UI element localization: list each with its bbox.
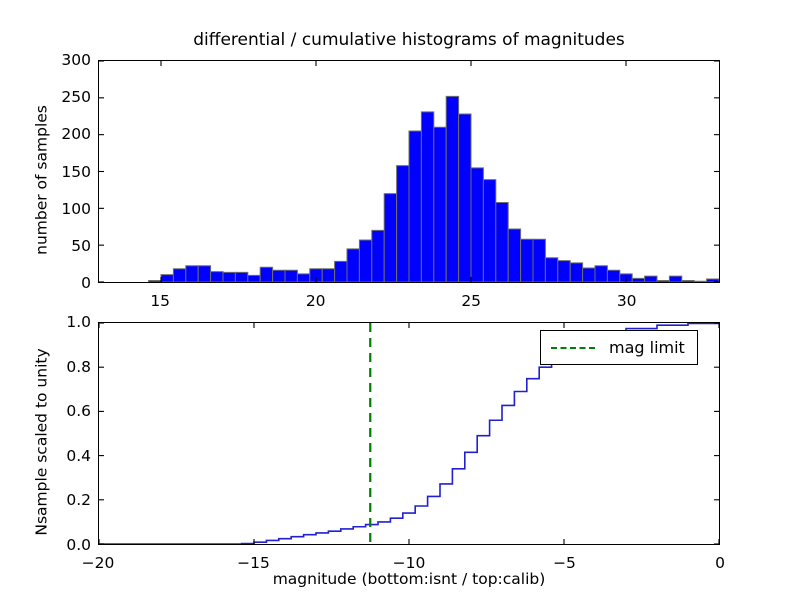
histogram-bar — [161, 275, 173, 282]
histogram-bar — [583, 268, 595, 282]
histogram-bar — [260, 267, 272, 282]
chart-title: differential / cumulative histograms of … — [98, 30, 720, 50]
legend-swatch-mag-limit — [551, 347, 595, 349]
histogram-bar — [186, 266, 198, 282]
histogram-bar — [570, 263, 582, 282]
top-panel-differential-histogram — [98, 60, 720, 283]
figure-canvas: differential / cumulative histograms of … — [0, 0, 800, 600]
histogram-bar — [322, 269, 334, 282]
histogram-bar — [508, 229, 520, 282]
legend: mag limit — [540, 330, 698, 365]
histogram-bar — [347, 249, 359, 282]
histogram-bar — [521, 239, 533, 282]
histogram-bar — [384, 194, 396, 282]
histogram-bar — [645, 276, 657, 282]
histogram-bars — [99, 61, 719, 282]
histogram-bar — [434, 127, 446, 282]
histogram-bar — [682, 281, 694, 282]
histogram-bar — [335, 261, 347, 282]
histogram-bar — [607, 270, 619, 282]
top-panel-y-axis-label: number of samples — [33, 69, 51, 292]
histogram-bar — [694, 281, 706, 282]
histogram-bar — [459, 114, 471, 282]
histogram-bar — [421, 112, 433, 282]
legend-label-mag-limit: mag limit — [609, 338, 685, 357]
histogram-bar — [471, 168, 483, 282]
histogram-bar — [223, 272, 235, 282]
top-xticks-tick-label: 30 — [617, 292, 637, 310]
histogram-bar — [595, 266, 607, 282]
histogram-bar — [297, 274, 309, 282]
histogram-bar — [632, 278, 644, 282]
histogram-bar — [198, 266, 210, 282]
histogram-bar — [496, 202, 508, 282]
histogram-bar — [446, 96, 458, 282]
top-xticks-tick-label: 15 — [150, 292, 170, 310]
histogram-bar — [211, 272, 223, 282]
x-axis-label: magnitude (bottom:isnt / top:calib) — [98, 570, 720, 588]
histogram-bar — [397, 166, 409, 282]
histogram-bar — [359, 240, 371, 282]
histogram-bar — [173, 269, 185, 282]
histogram-bar — [248, 275, 260, 282]
histogram-bar — [657, 281, 669, 282]
histogram-bar — [285, 270, 297, 282]
histogram-bar — [558, 261, 570, 282]
histogram-bar — [669, 276, 681, 282]
top-yticks-tick-label: 300 — [36, 51, 98, 69]
top-xticks-tick-label: 20 — [306, 292, 326, 310]
top-panel-plot-area — [99, 61, 719, 282]
top-panel-x-axis: 15202530 — [0, 288, 800, 312]
top-xticks-tick-label: 25 — [461, 292, 481, 310]
histogram-bar — [372, 230, 384, 282]
bottom-panel-y-axis-label: Nsample scaled to unity — [33, 331, 51, 554]
histogram-bar — [149, 281, 161, 282]
histogram-bar — [409, 131, 421, 282]
histogram-bar — [533, 239, 545, 282]
histogram-bar — [273, 270, 285, 282]
histogram-bar — [235, 272, 247, 282]
bottom-yticks-tick-label: 1.0 — [36, 313, 98, 331]
histogram-bar — [483, 180, 495, 282]
histogram-bar — [545, 258, 557, 282]
